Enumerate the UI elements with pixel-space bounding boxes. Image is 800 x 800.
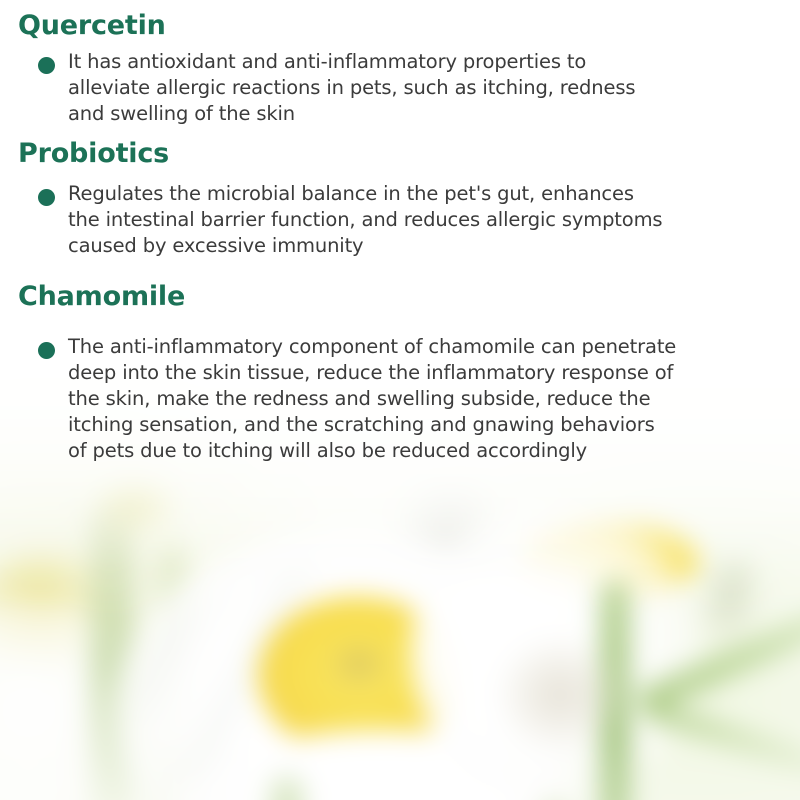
bullet-row-quercetin: It has antioxidant and anti-inflammatory… bbox=[0, 49, 800, 127]
section-quercetin: Quercetin It has antioxidant and anti-in… bbox=[0, 10, 800, 127]
product-ingredient-infographic: Quercetin It has antioxidant and anti-in… bbox=[0, 0, 800, 800]
section-chamomile: Chamomile The anti-inflammatory componen… bbox=[0, 281, 800, 464]
heading-chamomile: Chamomile bbox=[0, 281, 800, 313]
heading-quercetin: Quercetin bbox=[0, 10, 800, 42]
filled-circle-bullet-icon bbox=[38, 342, 55, 359]
bullet-row-probiotics: Regulates the microbial balance in the p… bbox=[0, 181, 800, 259]
body-text-probiotics: Regulates the microbial balance in the p… bbox=[68, 181, 796, 259]
filled-circle-bullet-icon bbox=[38, 189, 55, 206]
heading-probiotics: Probiotics bbox=[0, 138, 800, 170]
ingredient-list: Quercetin It has antioxidant and anti-in… bbox=[0, 0, 800, 464]
bullet-row-chamomile: The anti-inflammatory component of chamo… bbox=[0, 334, 800, 464]
body-text-chamomile: The anti-inflammatory component of chamo… bbox=[68, 334, 796, 464]
filled-circle-bullet-icon bbox=[38, 57, 55, 74]
body-text-quercetin: It has antioxidant and anti-inflammatory… bbox=[68, 49, 796, 127]
section-probiotics: Probiotics Regulates the microbial balan… bbox=[0, 138, 800, 259]
